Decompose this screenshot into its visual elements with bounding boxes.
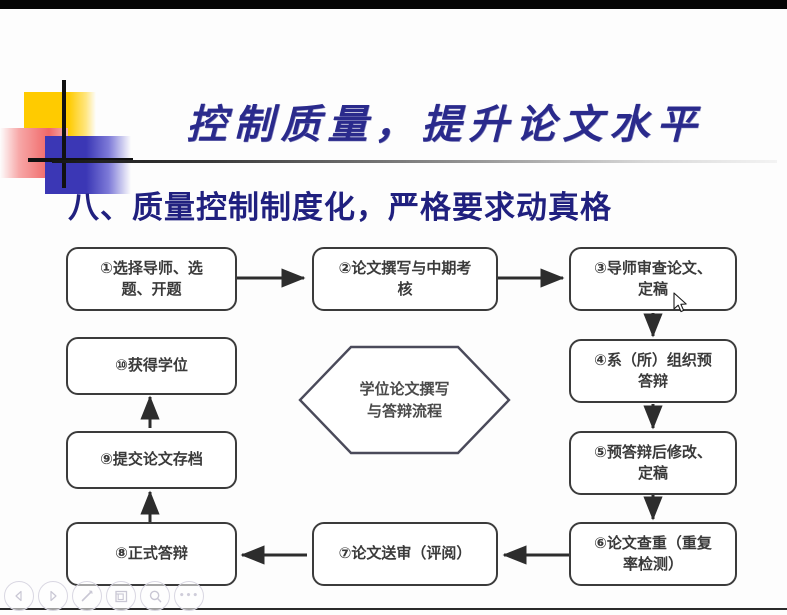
mouse-cursor bbox=[673, 292, 689, 314]
more-icon: ••• bbox=[179, 591, 199, 601]
flow-node-7[interactable]: ⑦论文送审（评阅） bbox=[312, 522, 498, 586]
flow-node-9[interactable]: ⑨提交论文存档 bbox=[66, 431, 237, 489]
flow-node-6-label: ⑥论文查重（重复 率检测） bbox=[594, 533, 712, 576]
flow-node-4-label: ④系（所）组织预 答辩 bbox=[594, 350, 712, 393]
flowchart: ①选择导师、选 题、开题 ②论文撰写与中期考 核 ③导师审查论文、 定稿 ④系（… bbox=[0, 0, 787, 615]
flow-node-7-label: ⑦论文送审（评阅） bbox=[339, 543, 472, 564]
back-button[interactable] bbox=[4, 581, 34, 611]
flow-node-1[interactable]: ①选择导师、选 题、开题 bbox=[66, 247, 237, 311]
flow-center-label: 学位论文撰写 与答辩流程 bbox=[359, 378, 449, 423]
bottom-toolbar: ••• bbox=[4, 581, 204, 611]
flow-node-1-label: ①选择导师、选 题、开题 bbox=[100, 258, 203, 301]
forward-button[interactable] bbox=[38, 581, 68, 611]
flow-node-4[interactable]: ④系（所）组织预 答辩 bbox=[569, 339, 737, 403]
flow-node-6[interactable]: ⑥论文查重（重复 率检测） bbox=[569, 522, 737, 586]
flow-node-8-label: ⑧正式答辩 bbox=[115, 543, 188, 564]
flow-node-2-label: ②论文撰写与中期考 核 bbox=[339, 258, 472, 301]
back-icon bbox=[13, 590, 25, 602]
flow-center-hexagon[interactable]: 学位论文撰写 与答辩流程 bbox=[297, 345, 512, 455]
flow-node-10-label: ⑩获得学位 bbox=[115, 355, 188, 376]
pen-button[interactable] bbox=[72, 581, 102, 611]
flow-node-3-label: ③导师审查论文、 定稿 bbox=[594, 258, 712, 301]
search-button[interactable] bbox=[140, 581, 170, 611]
forward-icon bbox=[47, 590, 59, 602]
flow-node-5-label: ⑤预答辩后修改、 定稿 bbox=[594, 442, 712, 485]
search-icon bbox=[148, 589, 163, 604]
layout-button[interactable] bbox=[106, 581, 136, 611]
more-button[interactable]: ••• bbox=[174, 581, 204, 611]
flow-node-3[interactable]: ③导师审查论文、 定稿 bbox=[569, 247, 737, 311]
flow-node-10[interactable]: ⑩获得学位 bbox=[66, 337, 237, 395]
flow-node-2[interactable]: ②论文撰写与中期考 核 bbox=[312, 247, 498, 311]
flow-node-8[interactable]: ⑧正式答辩 bbox=[66, 522, 237, 586]
layout-icon bbox=[114, 589, 129, 604]
flow-node-9-label: ⑨提交论文存档 bbox=[100, 449, 203, 470]
pen-icon bbox=[79, 588, 95, 604]
flow-node-5[interactable]: ⑤预答辩后修改、 定稿 bbox=[569, 431, 737, 495]
slide-stage: 控制质量，提升论文水平 八、质量控制制度化，严格要求动真格 bbox=[0, 0, 787, 615]
